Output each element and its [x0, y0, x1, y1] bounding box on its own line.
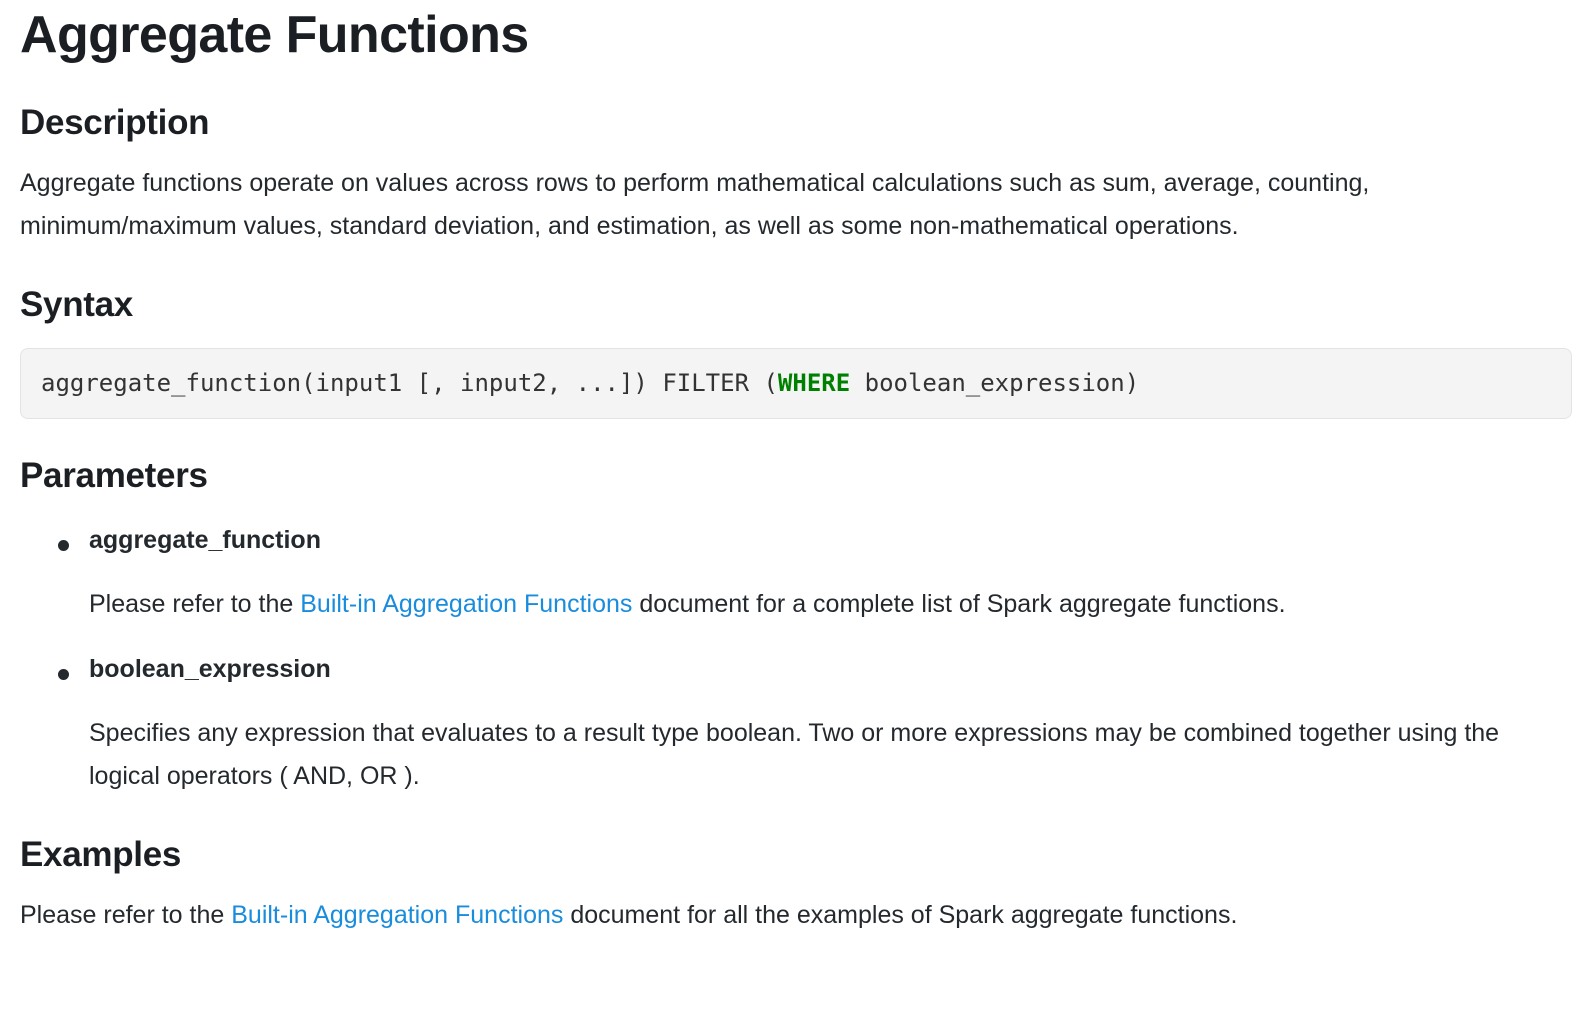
examples-text-before: Please refer to the	[20, 901, 231, 929]
param-desc-text-after: document for a complete list of Spark ag…	[632, 590, 1285, 618]
parameter-name-aggregate-function: aggregate_function	[89, 523, 1572, 558]
syntax-code-line: aggregate_function(input1 [, input2, ...…	[41, 368, 1551, 399]
code-text-suffix: boolean_expression)	[850, 369, 1139, 397]
code-text-prefix: aggregate_function(input1 [, input2, ...…	[41, 369, 778, 397]
section-heading-syntax: Syntax	[20, 284, 1572, 326]
syntax-code-block: aggregate_function(input1 [, input2, ...…	[20, 348, 1572, 419]
link-built-in-aggregation-functions[interactable]: Built-in Aggregation Functions	[300, 590, 632, 618]
description-paragraph: Aggregate functions operate on values ac…	[20, 162, 1572, 248]
param-desc-text-before: Please refer to the	[89, 590, 300, 618]
examples-text-after: document for all the examples of Spark a…	[563, 901, 1237, 929]
examples-paragraph: Please refer to the Built-in Aggregation…	[20, 894, 1572, 937]
parameter-description: Specifies any expression that evaluates …	[89, 712, 1572, 798]
section-heading-examples: Examples	[20, 834, 1572, 876]
parameters-list: aggregate_function Please refer to the B…	[20, 523, 1572, 798]
parameter-description: Please refer to the Built-in Aggregation…	[89, 583, 1572, 626]
code-keyword-where: WHERE	[778, 369, 850, 397]
list-item: aggregate_function Please refer to the B…	[20, 523, 1572, 626]
section-heading-parameters: Parameters	[20, 455, 1572, 497]
section-heading-description: Description	[20, 102, 1572, 144]
parameter-name-boolean-expression: boolean_expression	[89, 652, 1572, 687]
list-item: boolean_expression Specifies any express…	[20, 652, 1572, 798]
page-title: Aggregate Functions	[20, 6, 1572, 66]
documentation-page: Aggregate Functions Description Aggregat…	[0, 6, 1590, 937]
link-built-in-aggregation-functions[interactable]: Built-in Aggregation Functions	[231, 901, 563, 929]
